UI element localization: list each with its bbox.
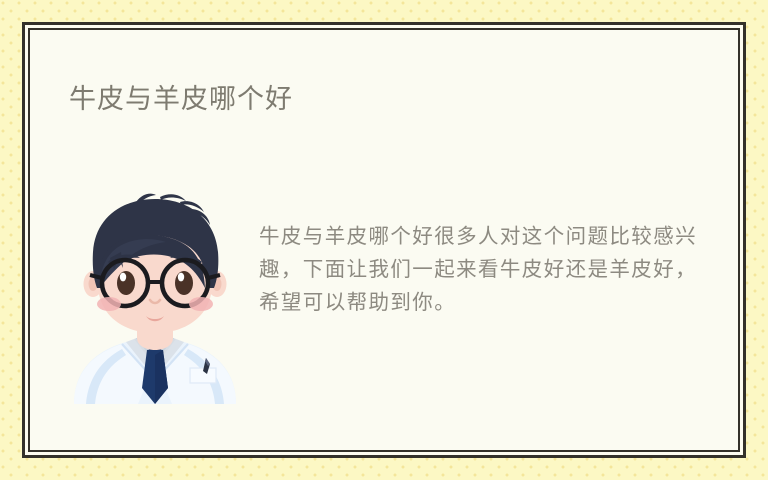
poster-card: 牛皮与羊皮哪个好 [0,0,768,480]
decorative-frame-outer-rule: 牛皮与羊皮哪个好 [22,22,746,458]
page-title: 牛皮与羊皮哪个好 [69,82,293,116]
doctor-avatar-illustration [64,192,246,404]
article-body-text: 牛皮与羊皮哪个好很多人对这个问题比较感兴趣，下面让我们一起来看牛皮好还是羊皮好，… [259,221,711,320]
content-panel: 牛皮与羊皮哪个好 [30,30,738,450]
decorative-frame-inner-rule: 牛皮与羊皮哪个好 [28,28,740,452]
